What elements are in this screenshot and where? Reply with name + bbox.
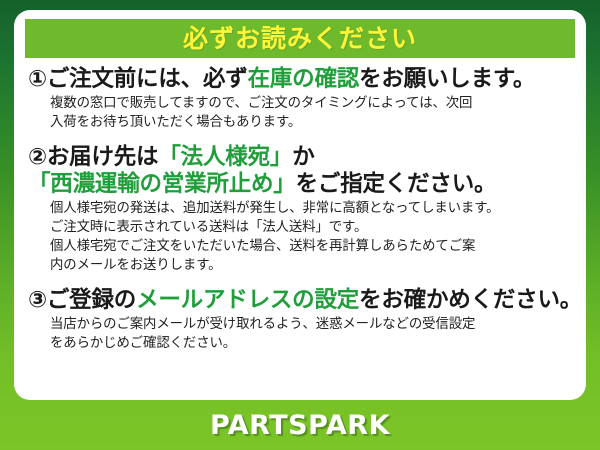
notice-panel: 必ずお読みください ①ご注文前には、必ず在庫の確認をお願いします。 複数の窓口で… [14, 10, 586, 400]
notice-item-1-headline-part-1: ご注文前には、必ず [47, 66, 248, 92]
notice-item-1-body: 複数の窓口で販売してますので、ご注文のタイミングによっては、次回 入荷をお待ち頂… [28, 95, 578, 133]
notice-item-3-headline: ③ご登録のメールアドレスの設定をお確かめください。 [28, 287, 578, 314]
notice-item-2-headline-part-3: か [292, 144, 314, 170]
notice-item-3-body-line-1: 当店からのご案内メールが受け取れるよう、迷惑メールなどの受信設定 [50, 316, 578, 335]
notice-item-1-headline-part-3: をお願いします。 [359, 66, 535, 92]
notice-item-1-body-line-1: 複数の窓口で販売してますので、ご注文のタイミングによっては、次回 [50, 95, 578, 114]
notice-item-2-headline-part-5: をご指定ください。 [296, 171, 497, 197]
notice-item-2-body-line-2: ご注文時に表示されている送料は「法人送料」です。 [50, 219, 578, 238]
notice-item-2-body-line-3: 個人様宅宛でご注文をいただいた場合、送料を再計算しあらためてご案 [50, 238, 578, 257]
notice-item-2-body-line-4: 内のメールをお送りします。 [50, 257, 578, 276]
notice-item-3-headline-part-3: をお確かめください。 [359, 287, 582, 313]
header-band: 必ずお読みください [25, 19, 575, 58]
brand-logo-text: PARTSPARK [210, 410, 390, 441]
footer-bar: PARTSPARK [0, 400, 600, 450]
notice-item-2-body: 個人様宅宛の発送は、追加送料が発生し、非常に高額となってしまいます。 ご注文時に… [28, 200, 578, 275]
notice-item-3-body-line-2: をあらかじめご確認ください。 [50, 335, 578, 354]
notice-item-2-body-line-1: 個人様宅宛の発送は、追加送料が発生し、非常に高額となってしまいます。 [50, 200, 578, 219]
notice-item-3-marker: ③ [28, 287, 47, 313]
notice-banner: 必ずお読みください ①ご注文前には、必ず在庫の確認をお願いします。 複数の窓口で… [0, 0, 600, 450]
notice-item-1-headline-highlight: 在庫の確認 [248, 66, 360, 92]
notice-item-1-marker: ① [28, 66, 47, 92]
notice-item-2-headline: ②お届け先は「法人様宛」か「西濃運輸の営業所止め」をご指定ください。 [28, 144, 578, 199]
notice-item-3-body: 当店からのご案内メールが受け取れるよう、迷惑メールなどの受信設定 をあらかじめご… [28, 316, 578, 354]
notice-item-2-headline-highlight-2: 「西濃運輸の営業所止め」 [28, 171, 296, 197]
notice-item-1-body-line-2: 入荷をお待ち頂いただく場合もあります。 [50, 114, 578, 133]
notice-item-2: ②お届け先は「法人様宛」か「西濃運輸の営業所止め」をご指定ください。 個人様宅宛… [14, 144, 586, 276]
notice-item-list: ①ご注文前には、必ず在庫の確認をお願いします。 複数の窓口で販売してますので、ご… [14, 66, 586, 354]
header-title: 必ずお読みください [183, 26, 417, 51]
notice-item-1: ①ご注文前には、必ず在庫の確認をお願いします。 複数の窓口で販売してますので、ご… [14, 66, 586, 133]
notice-item-1-headline: ①ご注文前には、必ず在庫の確認をお願いします。 [28, 66, 578, 93]
notice-item-2-marker: ② [28, 144, 47, 170]
notice-item-3-headline-part-1: ご登録の [47, 287, 136, 313]
notice-item-2-headline-part-1: お届け先は [47, 144, 159, 170]
notice-item-2-headline-highlight-1: 「法人様宛」 [158, 144, 292, 170]
notice-item-3-headline-highlight: メールアドレスの設定 [136, 287, 359, 313]
notice-item-3: ③ご登録のメールアドレスの設定をお確かめください。 当店からのご案内メールが受け… [14, 287, 586, 354]
